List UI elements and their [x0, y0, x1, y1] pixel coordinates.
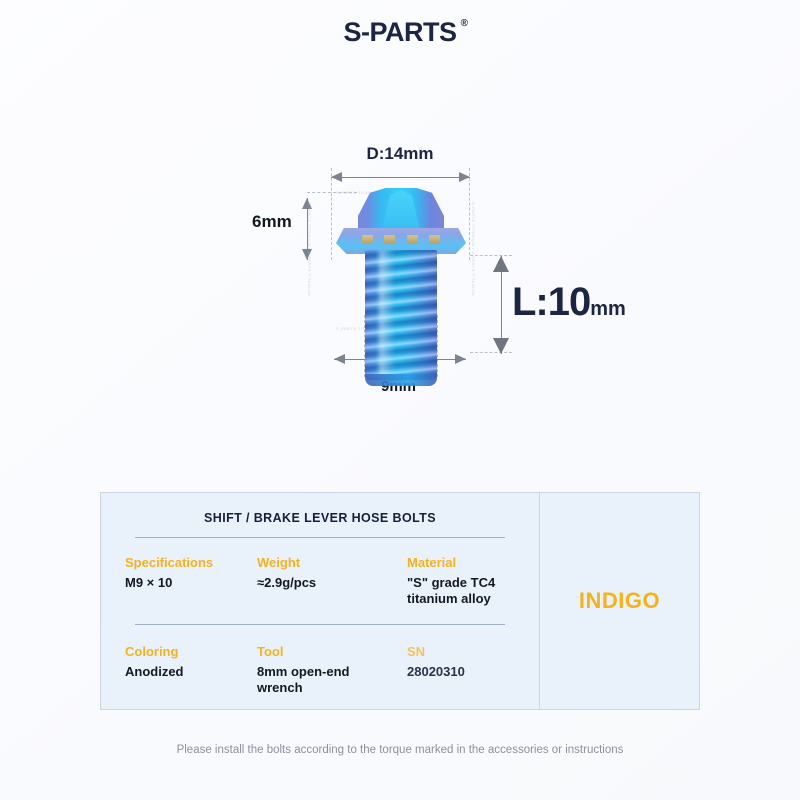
registered-trademark-icon: ®	[461, 18, 468, 29]
spec-label-coloring: Coloring	[125, 644, 257, 659]
spec-label-sn: SN	[407, 644, 547, 659]
specification-panel: SHIFT / BRAKE LEVER HOSE BOLTS Specifica…	[100, 492, 700, 710]
dimension-arrow-diameter	[331, 170, 470, 184]
spec-cell-specifications: Specifications M9 × 10	[125, 555, 257, 608]
spec-cell-weight: Weight ≈2.9g/pcs	[257, 555, 407, 608]
bolt-highlight	[379, 250, 395, 380]
spec-value-tool: 8mm open-end wrench	[257, 664, 407, 697]
spec-value-weight: ≈2.9g/pcs	[257, 575, 407, 591]
dimension-label-length: L:10mm	[512, 282, 626, 322]
spec-label-weight: Weight	[257, 555, 407, 570]
spec-cell-material: Material "S" grade TC4 titanium alloy	[407, 555, 547, 608]
dimension-label-head-height: 6mm	[252, 212, 292, 232]
spec-value-material: "S" grade TC4 titanium alloy	[407, 575, 547, 608]
product-title: SHIFT / BRAKE LEVER HOSE BOLTS	[125, 493, 515, 525]
spec-value-coloring: Anodized	[125, 664, 257, 680]
spec-row-2: Coloring Anodized Tool 8mm open-end wren…	[125, 625, 515, 697]
bolt-shank-tip	[365, 374, 437, 386]
product-diagram: D:14mm 6mm 9mm L:10mm S-PARTS TITANIUM /…	[0, 130, 800, 430]
color-name-label: INDIGO	[579, 588, 660, 614]
bolt-threaded-shank	[365, 250, 437, 380]
watermark-text-left: S-PARTS TITANIUM / S-PARTS TITANIUM	[307, 202, 312, 296]
brand-logo: S-PARTS®	[343, 17, 456, 48]
dimension-length-value: L:10	[512, 280, 590, 324]
watermark-text-right: S-PARTS TITANIUM / S-PARTS TITANIUM	[471, 202, 476, 296]
spec-cell-coloring: Coloring Anodized	[125, 644, 257, 697]
dimension-arrow-length	[492, 256, 510, 354]
brand-header: S-PARTS®	[0, 17, 800, 48]
dimension-length-unit: mm	[590, 298, 626, 320]
specification-table: SHIFT / BRAKE LEVER HOSE BOLTS Specifica…	[101, 493, 539, 709]
spec-value-specifications: M9 × 10	[125, 575, 257, 591]
bolt-thread-ridges	[365, 250, 437, 380]
spec-label-tool: Tool	[257, 644, 407, 659]
footer-note: Please install the bolts according to th…	[0, 744, 800, 756]
bolt-flange-markings	[362, 235, 440, 244]
color-panel: INDIGO	[539, 493, 699, 709]
spec-row-1: Specifications M9 × 10 Weight ≈2.9g/pcs …	[125, 538, 515, 608]
spec-cell-sn: SN 28020310	[407, 644, 547, 697]
spec-label-material: Material	[407, 555, 547, 570]
product-image-bolt	[336, 188, 466, 388]
spec-cell-tool: Tool 8mm open-end wrench	[257, 644, 407, 697]
spec-value-sn: 28020310	[407, 664, 547, 680]
brand-name: S-PARTS	[343, 17, 456, 47]
dimension-label-diameter: D:14mm	[0, 144, 800, 164]
spec-label-specifications: Specifications	[125, 555, 257, 570]
